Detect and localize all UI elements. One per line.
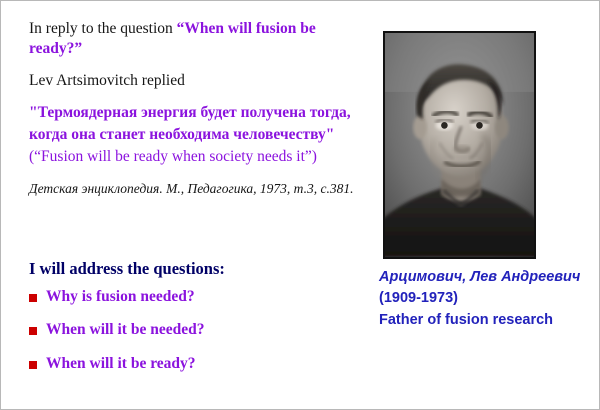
agenda-title: I will address the questions:	[29, 259, 349, 279]
portrait-photo	[383, 31, 536, 259]
caption-name-russian: Арцимович, Лев Андреевич	[379, 269, 580, 285]
list-item: When will it be ready?	[29, 355, 349, 374]
attribution-line: Lev Artsimovitch replied	[29, 71, 371, 91]
intro-paragraph: In reply to the question “When will fusi…	[29, 19, 371, 60]
square-bullet-icon	[29, 361, 37, 369]
square-bullet-icon	[29, 327, 37, 335]
intro-lead-text: In reply to the question	[29, 20, 177, 37]
square-bullet-icon	[29, 294, 37, 302]
list-item: Why is fusion needed?	[29, 288, 349, 307]
list-item: When will it be needed?	[29, 321, 349, 340]
text-column: In reply to the question “When will fusi…	[29, 19, 371, 198]
caption-role: Father of fusion research	[379, 310, 587, 331]
quote-russian: "Термоядерная энергия будет получена тог…	[29, 104, 351, 143]
portrait-caption: Арцимович, Лев Андреевич (1909-1973) Fat…	[379, 267, 587, 331]
agenda-list: Why is fusion needed? When will it be ne…	[29, 288, 349, 374]
quote-english-translation: (“Fusion will be ready when society need…	[29, 148, 317, 165]
artsimovich-quote: "Термоядерная энергия будет получена тог…	[29, 102, 371, 168]
agenda-item-label: Why is fusion needed?	[46, 288, 195, 307]
portrait-illustration	[385, 33, 534, 257]
agenda-item-label: When will it be needed?	[46, 321, 204, 340]
agenda-item-label: When will it be ready?	[46, 355, 196, 374]
agenda-section: I will address the questions: Why is fus…	[29, 259, 349, 389]
caption-life-years: (1909-1973)	[379, 290, 458, 306]
slide-canvas: In reply to the question “When will fusi…	[0, 0, 600, 410]
source-citation: Детская энциклопедия. М., Педагогика, 19…	[29, 180, 371, 198]
